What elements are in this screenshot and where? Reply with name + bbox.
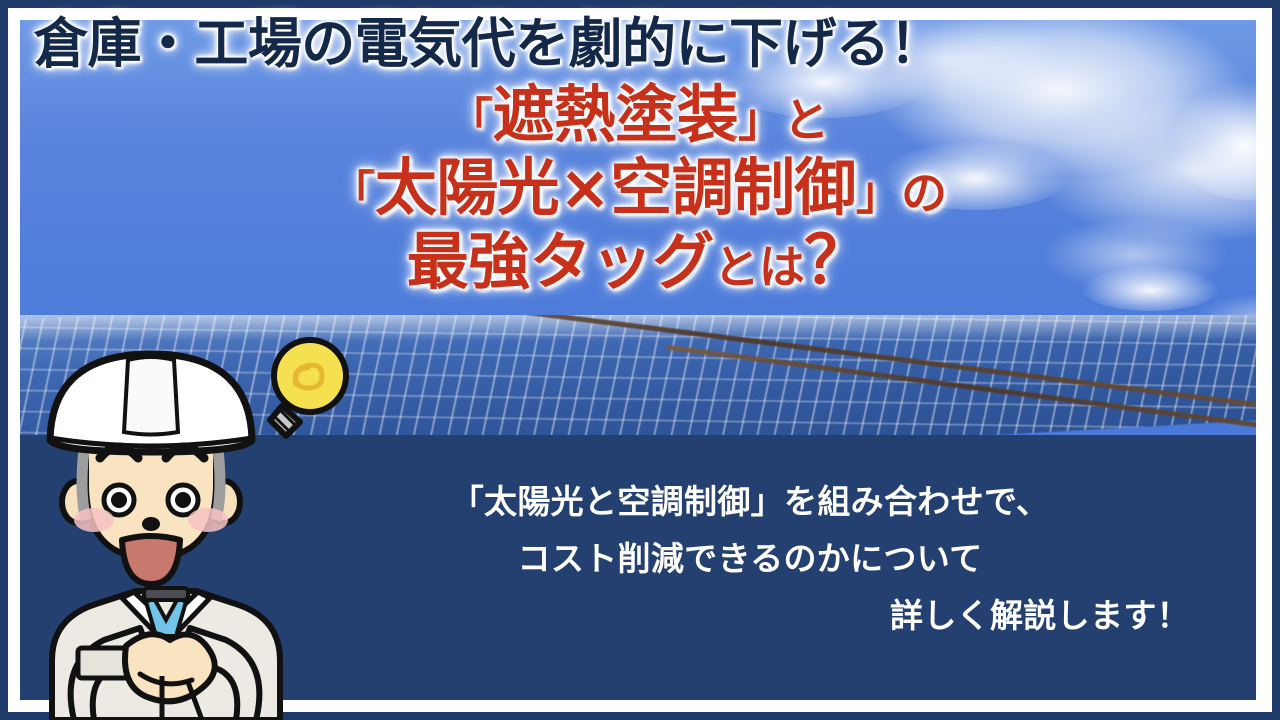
lightbulb-icon [252,328,352,444]
slide-canvas: 倉庫・工場の電気代を劇的に下げる！ 「遮熱塗装」と 「太陽光×空調制御」の 最強… [0,0,1280,720]
cloud-shape [1080,265,1220,311]
cloud-shape [1170,80,1256,200]
subtitle-line-1: 「太陽光と空調制御」を組み合わせで、 [300,474,1200,531]
subtitle-block: 「太陽光と空調制御」を組み合わせで、 コスト削減できるのかについて 詳しく解説し… [300,474,1200,644]
subtitle-line-3: 詳しく解説します！ [300,588,1200,645]
subtitle-line-2: コスト削減できるのかについて [300,531,1200,588]
cloud-shape [880,140,1070,210]
cloud-shape [720,38,930,118]
